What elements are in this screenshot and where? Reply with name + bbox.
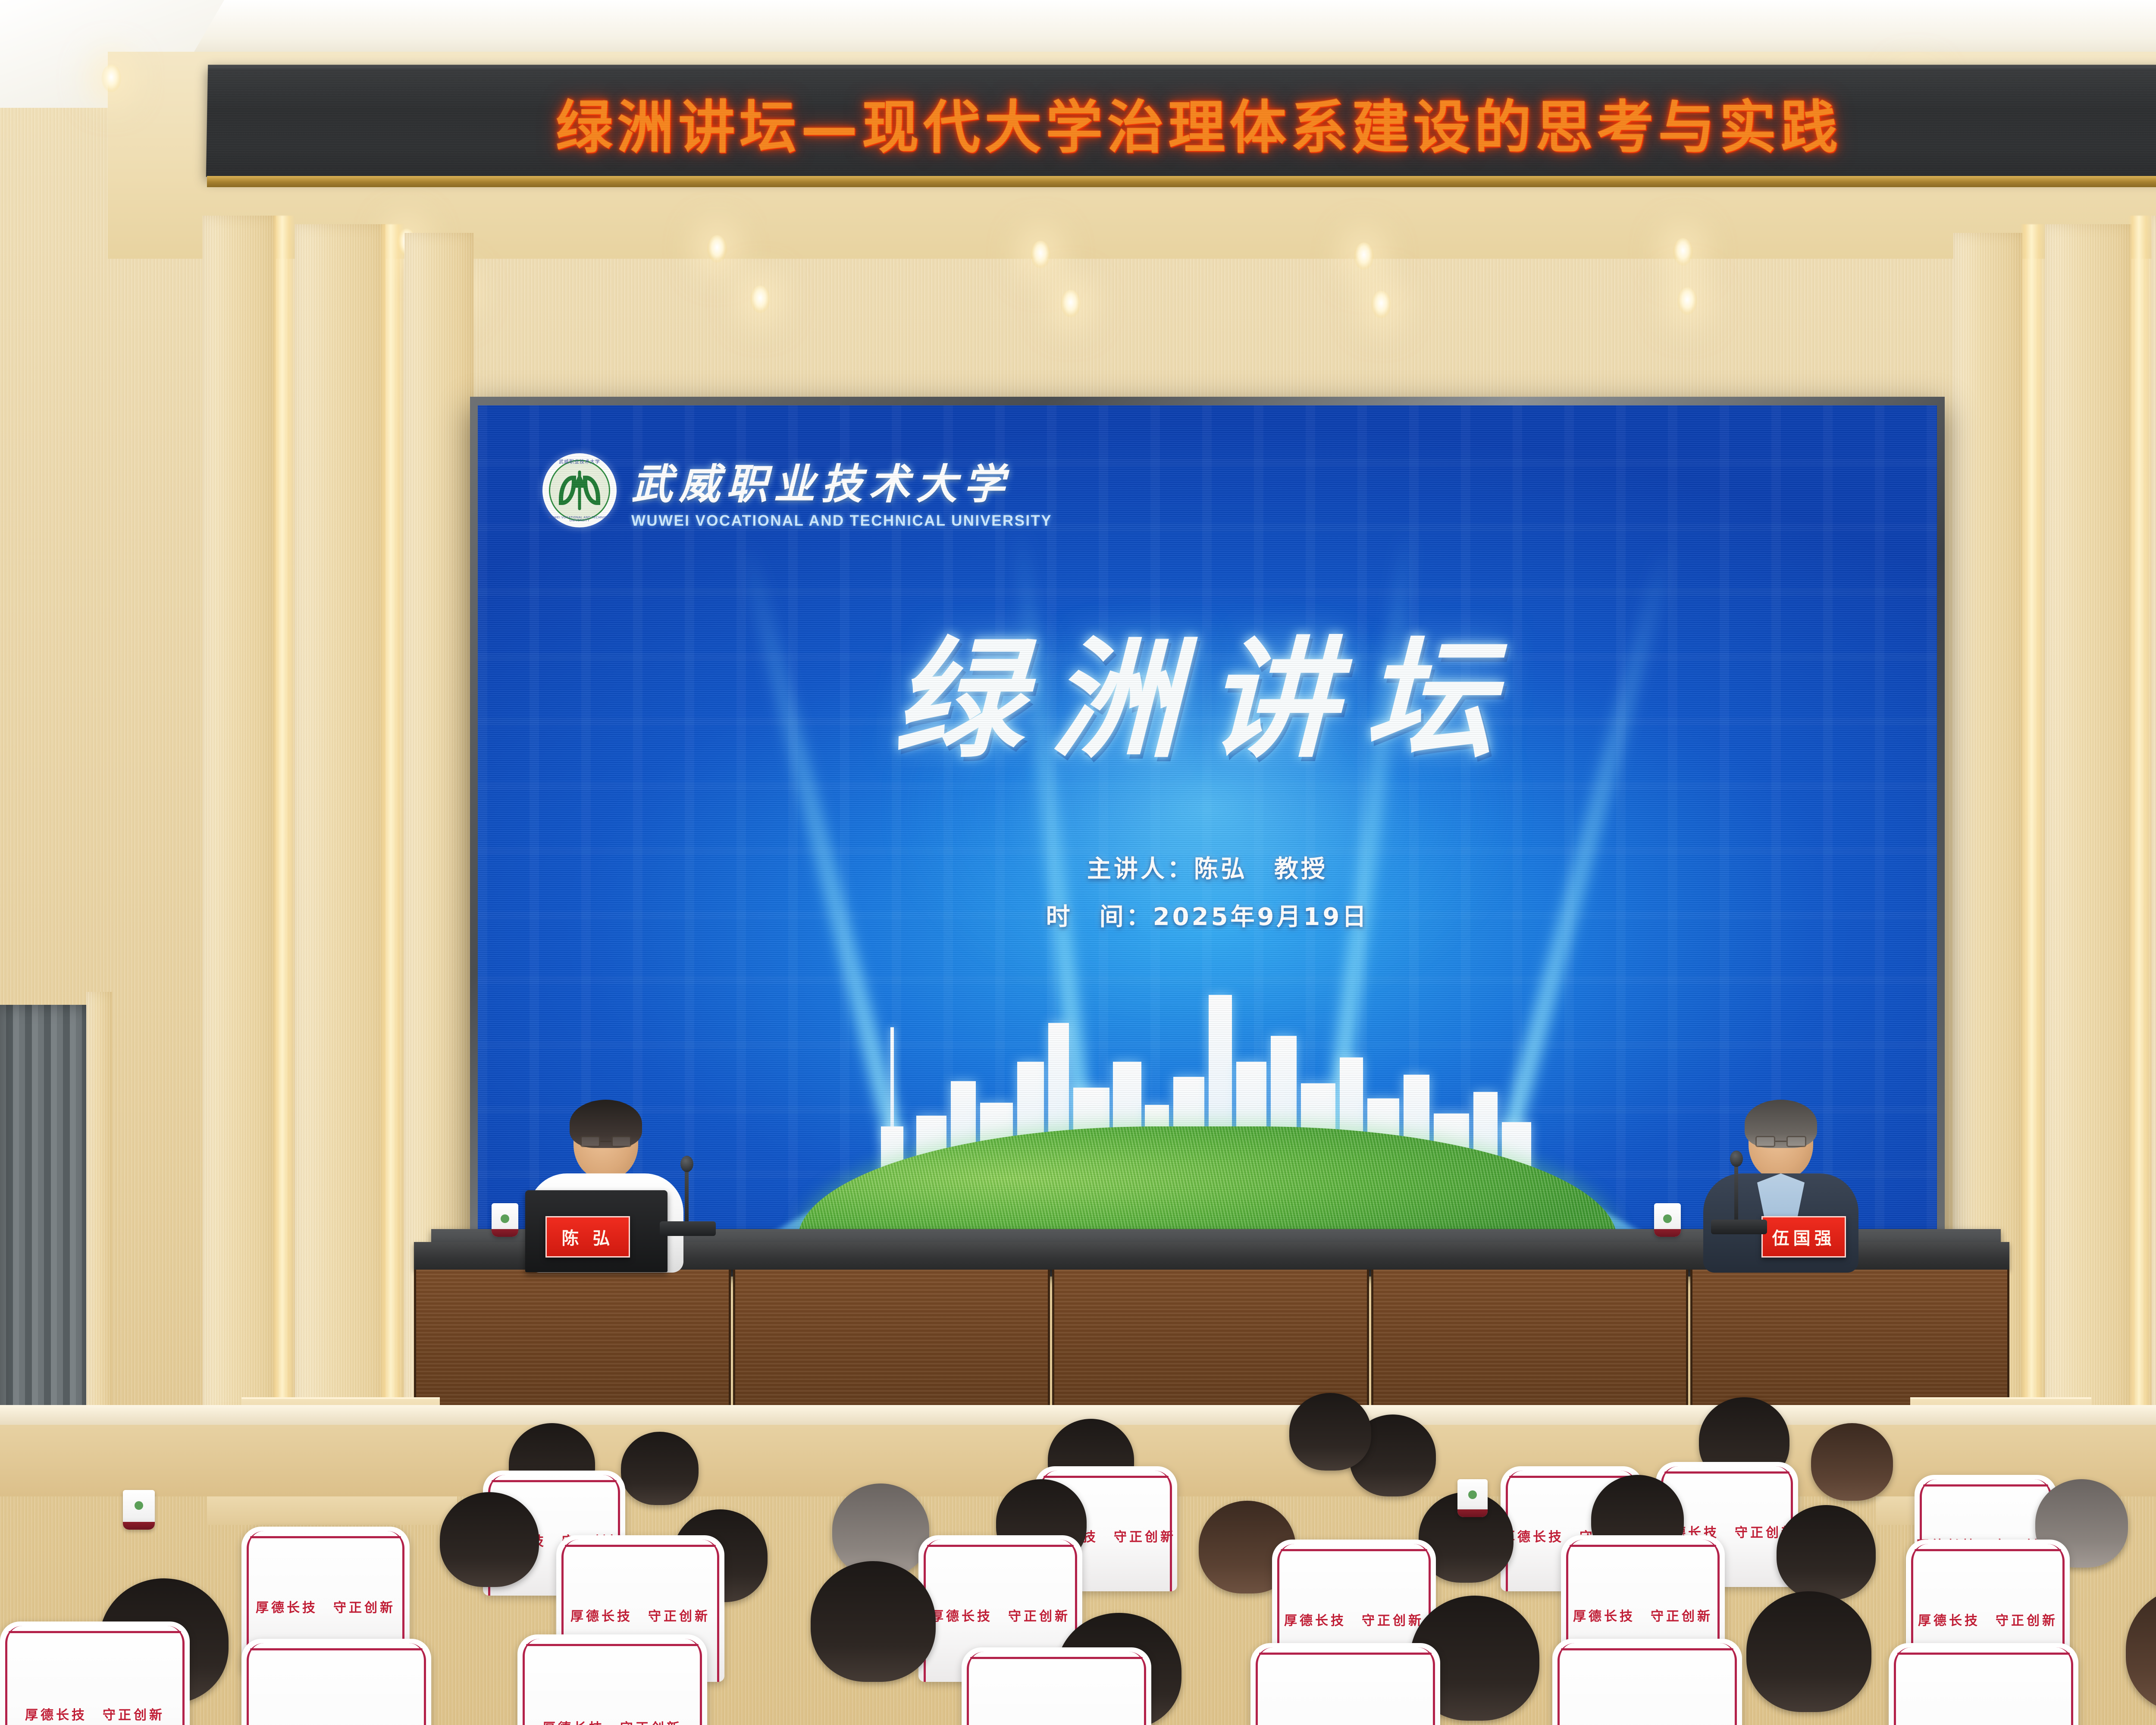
audience-chair: 厚德长技 守正创新 [1250, 1643, 1440, 1725]
chair-motto: 厚德长技 守正创新 [1272, 1610, 1436, 1629]
crest-text-top: 武威职业技术大学 [545, 458, 614, 465]
university-crest-icon: 武威职业技术大学 WUWEI VOCATIONAL AND TECHNICAL … [542, 453, 617, 527]
chair-motto: 厚德长技 守正创新 [241, 1722, 431, 1725]
wall-panel-left-1 [203, 216, 276, 1414]
audience-chair: 厚德长技 守正创新 [1889, 1643, 2078, 1725]
downlight [750, 285, 770, 313]
audience-head [811, 1561, 936, 1682]
light-column-left-1 [272, 216, 295, 1414]
side-curtain [0, 1005, 93, 1445]
speaker-right-head [1749, 1104, 1813, 1179]
nameplate-left: 陈 弘 [545, 1216, 630, 1258]
chair-motto: 厚德长技 守正创新 [1906, 1610, 2070, 1629]
downlight [1061, 290, 1081, 317]
audience-chair: 厚德长技 守正创新 [1552, 1639, 1742, 1725]
lecture-hall-photo: 绿洲讲坛—现代大学治理体系建设的思考与实践 武威职业技术大学 WUWEI VOC… [0, 0, 2156, 1725]
paper-cup [123, 1490, 155, 1530]
microphone-stem-left [685, 1164, 689, 1229]
university-name-cn: 武威职业技术大学 [631, 451, 1052, 511]
downlight [1673, 238, 1693, 266]
wall-panel-left-2 [295, 224, 385, 1414]
green-hill-graphic [798, 1126, 1617, 1243]
led-banner: 绿洲讲坛—现代大学治理体系建设的思考与实践 [206, 65, 2156, 177]
screen-info-block: 主讲人：陈弘 教授 时 间：2025年9月19日 [478, 850, 1937, 945]
university-name-en: WUWEI VOCATIONAL AND TECHNICAL UNIVERSIT… [631, 512, 1052, 530]
light-column-right-2 [2128, 216, 2152, 1414]
chair-motto: 厚德长技 守正创新 [1552, 1722, 1742, 1725]
speaker-left-glasses-icon [580, 1136, 631, 1147]
downlight [101, 65, 121, 92]
audience-chair: 厚德长技 守正创新 [241, 1639, 431, 1725]
chair-motto: 厚德长技 守正创新 [517, 1717, 707, 1725]
screen-speaker-line: 主讲人：陈弘 教授 [478, 850, 1937, 884]
light-column-right-1 [2020, 224, 2045, 1414]
audience-head [440, 1492, 539, 1587]
downlight [1031, 241, 1050, 268]
paper-cup [1457, 1479, 1488, 1517]
chair-motto: 厚德长技 守正创新 [0, 1704, 190, 1723]
microphone-head-left [680, 1156, 693, 1172]
audience-chair: 厚德长技 守正创新 [962, 1647, 1151, 1725]
led-banner-gold-trim [207, 176, 2156, 187]
chair-motto: 厚德长技 守正创新 [918, 1606, 1082, 1625]
paper-cup-right [1654, 1203, 1681, 1237]
microphone-base-right [1711, 1220, 1767, 1234]
audience-head [1289, 1393, 1371, 1471]
wall-panel-right-3 [2152, 216, 2156, 1414]
nameplate-right: 伍国强 [1761, 1216, 1846, 1258]
screen-main-title: 绿洲讲坛 [478, 595, 1937, 782]
speaker-right-glasses-icon [1755, 1136, 1806, 1147]
microphone-base-left [660, 1221, 716, 1236]
screen-date-line: 时 间：2025年9月19日 [478, 897, 1937, 932]
crest-text-bottom: WUWEI VOCATIONAL AND TECHNICAL UNIVERSIT… [545, 516, 614, 522]
audience-head [621, 1432, 699, 1505]
wall-panel-right-2 [2045, 224, 2131, 1414]
university-logo: 武威职业技术大学 WUWEI VOCATIONAL AND TECHNICAL … [542, 451, 1052, 530]
chair-motto: 厚德长技 守正创新 [241, 1597, 410, 1616]
microphone-stem-right [1734, 1160, 1738, 1226]
crest-leaf-icon [560, 469, 599, 512]
led-banner-text: 绿洲讲坛—现代大学治理体系建设的思考与实践 [555, 82, 1842, 164]
audience-chair: 厚德长技 守正创新 [517, 1634, 707, 1725]
microphone-head-right [1730, 1151, 1743, 1167]
audience-head [1746, 1591, 1871, 1712]
audience-head [1777, 1505, 1876, 1600]
audience-head [1811, 1423, 1893, 1501]
university-name-block: 武威职业技术大学 WUWEI VOCATIONAL AND TECHNICAL … [631, 451, 1052, 530]
downlight [707, 235, 727, 263]
chair-motto: 厚德长技 守正创新 [556, 1606, 724, 1625]
audience-chair: 厚德长技 守正创新 [0, 1621, 190, 1725]
speaker-left-head [573, 1104, 638, 1179]
downlight [1354, 242, 1374, 270]
chair-motto: 厚德长技 守正创新 [1561, 1606, 1725, 1625]
paper-cup-left [492, 1203, 518, 1237]
downlight [1677, 287, 1697, 315]
curtain-frame [86, 992, 112, 1449]
downlight [1371, 291, 1391, 318]
light-column-left-2 [379, 224, 404, 1414]
